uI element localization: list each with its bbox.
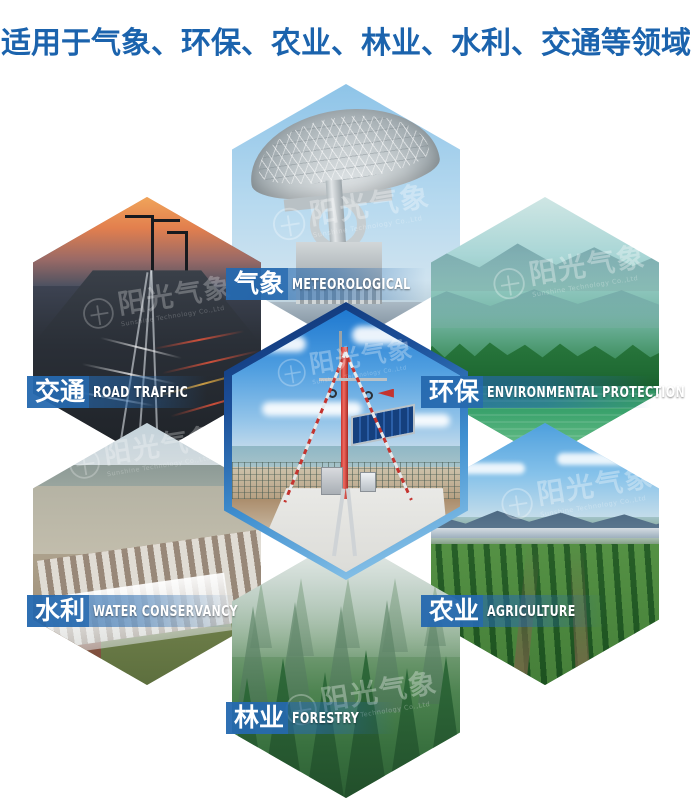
- page-title: 适用于气象、环保、农业、林业、水利、交通等领域: [0, 18, 692, 62]
- instrument-enclosure: [321, 467, 343, 495]
- radio-telescope-dish-icon: [243, 97, 443, 209]
- data-logger-box: [360, 472, 376, 492]
- sensor-crossarm: [319, 378, 387, 381]
- hexagon-grid: 阳光气象 Sunshine Technology Co.,Ltd 阳光气象 Su…: [0, 78, 692, 768]
- lamp-arm: [125, 215, 153, 218]
- dish-base: [296, 242, 382, 304]
- lamp-arm: [154, 219, 180, 222]
- lamp-arm: [167, 231, 187, 234]
